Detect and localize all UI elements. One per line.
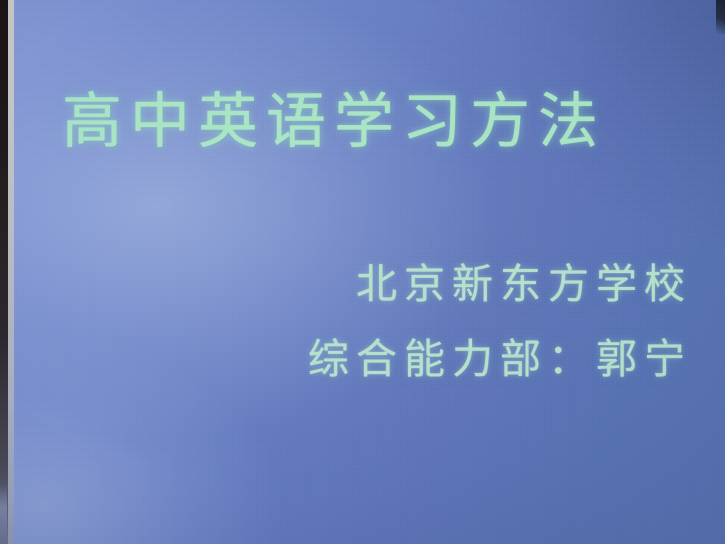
slide-subtitle-block: 北京新东方学校 综合能力部：郭宁 xyxy=(308,264,692,380)
slide-title: 高中英语学习方法 xyxy=(62,92,606,152)
slide-subtitle-department-presenter: 综合能力部：郭宁 xyxy=(308,339,692,380)
photo-border-bottom-left xyxy=(0,484,7,544)
photo-border-left xyxy=(0,0,8,544)
projected-slide-photo: 高中英语学习方法 北京新东方学校 综合能力部：郭宁 xyxy=(0,0,725,544)
slide-subtitle-organization: 北京新东方学校 xyxy=(308,264,692,305)
photo-border-top-right xyxy=(716,0,725,34)
